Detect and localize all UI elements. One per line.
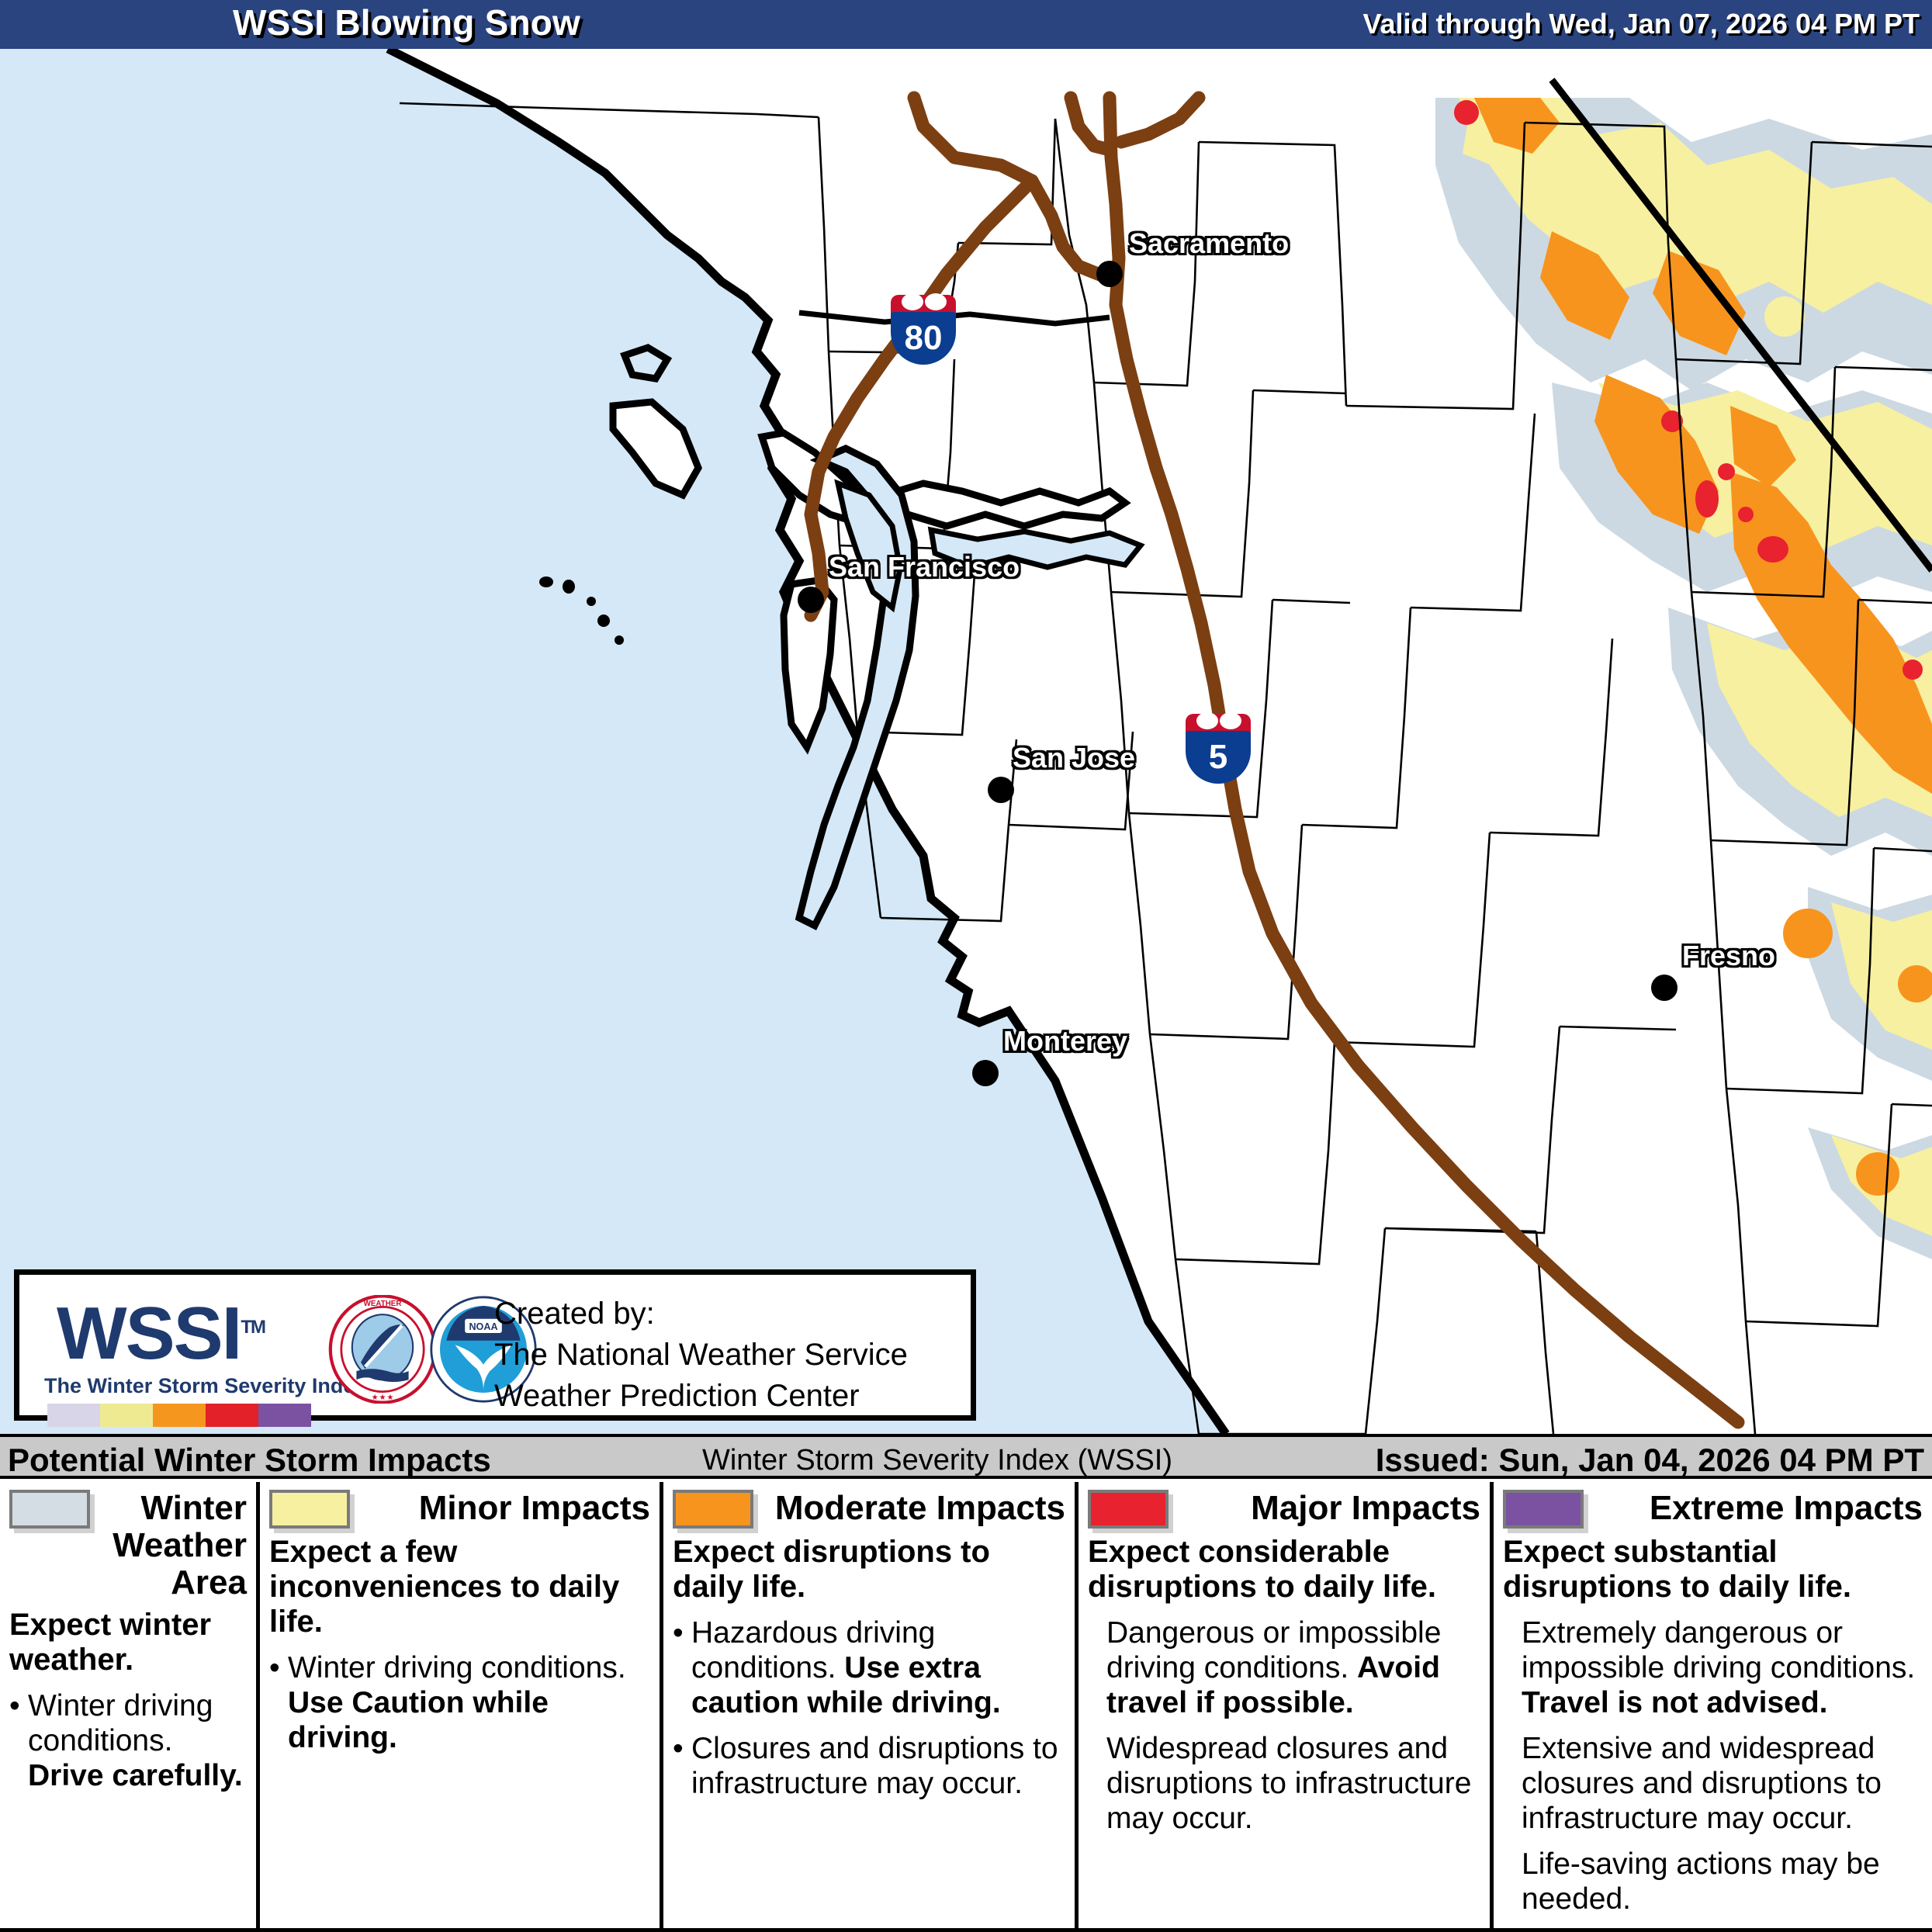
legend-bullet: Life-saving actions may be needed. <box>1503 1847 1923 1916</box>
bullet-dot-icon: • <box>673 1615 691 1720</box>
legend-bullet-text: Hazardous driving conditions. Use extra … <box>691 1615 1065 1720</box>
city-dot-san-francisco <box>798 587 824 613</box>
legend-bullet: •Hazardous driving conditions. Use extra… <box>673 1615 1065 1720</box>
city-label-san-jose: San Jose <box>1013 742 1135 774</box>
legend-bullet-text: Extensive and widespread closures and di… <box>1522 1731 1923 1836</box>
wssi-name-label: Winter Storm Severity Index (WSSI) <box>702 1444 1172 1477</box>
interstate-shield-5-number: 5 <box>1186 740 1251 774</box>
legend-intro: Expect considerable disruptions to daily… <box>1088 1535 1480 1605</box>
header-banner: WSSI Blowing Snow Valid through Wed, Jan… <box>0 0 1932 49</box>
bullet-dot-icon: • <box>9 1688 28 1793</box>
legend-intro: Expect winter weather. <box>9 1608 247 1678</box>
created-by-line-1: Created by: <box>494 1293 908 1335</box>
bullet-dot-icon: • <box>673 1731 691 1801</box>
legend-bullet-text: Winter driving conditions. Use Caution w… <box>288 1650 650 1755</box>
city-dot-fresno <box>1651 975 1678 1001</box>
city-label-fresno: Fresno <box>1682 940 1775 972</box>
valid-through-text: Valid through Wed, Jan 07, 2026 04 PM PT <box>1362 8 1920 40</box>
legend-header: Major Impacts <box>1088 1490 1480 1529</box>
legend-color-swatch <box>1503 1490 1584 1529</box>
issued-label: Issued: Sun, Jan 04, 2026 04 PM PT <box>1376 1442 1924 1479</box>
legend-column-major-impacts: Major ImpactsExpect considerable disrupt… <box>1079 1482 1494 1928</box>
svg-text:★ ★ ★: ★ ★ ★ <box>371 1393 393 1401</box>
legend-intro: Expect substantial disruptions to daily … <box>1503 1535 1923 1605</box>
svg-text:NOAA: NOAA <box>469 1321 497 1332</box>
legend-column-moderate-impacts: Moderate ImpactsExpect disruptions to da… <box>663 1482 1079 1928</box>
svg-text:WEATHER: WEATHER <box>364 1300 402 1308</box>
legend-bullet-text: Widespread closures and disruptions to i… <box>1106 1731 1480 1836</box>
bullet-dot-icon: • <box>269 1650 288 1755</box>
wssi-bar-segment-4 <box>258 1404 311 1427</box>
city-label-sacramento: Sacramento <box>1129 227 1289 260</box>
legend-bullet-text: Closures and disruptions to infrastructu… <box>691 1731 1065 1801</box>
legend-bullet: Extremely dangerous or impossible drivin… <box>1503 1615 1923 1720</box>
legend-header: Extreme Impacts <box>1503 1490 1923 1529</box>
legend-bullet-text: Dangerous or impossible driving conditio… <box>1106 1615 1480 1720</box>
legend-color-swatch <box>269 1490 350 1529</box>
legend-bullet: •Winter driving conditions. Use Caution … <box>269 1650 650 1755</box>
legend-title: Extreme Impacts <box>1594 1490 1923 1527</box>
wssi-bar-segment-0 <box>47 1404 100 1427</box>
interstate-shield-80-number: 80 <box>891 321 956 355</box>
wssi-tagline: The Winter Storm Severity Index <box>44 1374 366 1398</box>
legend-title: Winter Weather Area <box>101 1490 247 1601</box>
potential-impacts-label: Potential Winter Storm Impacts <box>8 1442 491 1479</box>
legend-color-swatch <box>9 1490 90 1529</box>
wssi-bar-segment-1 <box>100 1404 153 1427</box>
map-graphics <box>0 49 1932 1434</box>
legend-color-swatch <box>673 1490 753 1529</box>
wssi-bar-segment-3 <box>206 1404 258 1427</box>
weather-map[interactable]: Sacramento San Francisco San Jose Fresno… <box>0 49 1932 1434</box>
legend-header: Winter Weather Area <box>9 1490 247 1601</box>
legend-bullet-text: Winter driving conditions. Drive careful… <box>28 1688 247 1793</box>
city-dot-sacramento <box>1096 261 1123 287</box>
legend-bullet: Dangerous or impossible driving conditio… <box>1088 1615 1480 1720</box>
created-by-line-2: The National Weather Service <box>494 1335 908 1376</box>
nws-seal-icon: WEATHER ★ ★ ★ <box>328 1295 437 1404</box>
created-by-line-3: Weather Prediction Center <box>494 1376 908 1417</box>
legend-title: Major Impacts <box>1179 1490 1480 1527</box>
legend-intro: Expect a few inconveniences to daily lif… <box>269 1535 650 1639</box>
wssi-wordmark: WSSITM <box>57 1290 265 1371</box>
legend-column-extreme-impacts: Extreme ImpactsExpect substantial disrup… <box>1494 1482 1932 1928</box>
wssi-color-bar <box>47 1404 311 1427</box>
wssi-bar-segment-2 <box>153 1404 206 1427</box>
legend-bullet-text: Life-saving actions may be needed. <box>1522 1847 1923 1916</box>
created-by-block: Created by: The National Weather Service… <box>494 1293 908 1417</box>
legend-bullet-text: Extremely dangerous or impossible drivin… <box>1522 1615 1923 1720</box>
interstate-shield-80-icon: 80 <box>891 295 956 365</box>
status-bar: Potential Winter Storm Impacts Winter St… <box>0 1434 1932 1479</box>
page-title: WSSI Blowing Snow <box>233 2 580 43</box>
legend-bullet: Extensive and widespread closures and di… <box>1503 1731 1923 1836</box>
city-dot-san-jose <box>988 777 1014 803</box>
legend-bullet: Widespread closures and disruptions to i… <box>1088 1731 1480 1836</box>
legend-title: Minor Impacts <box>361 1490 650 1527</box>
legend-column-minor-impacts: Minor ImpactsExpect a few inconveniences… <box>260 1482 663 1928</box>
legend-header: Moderate Impacts <box>673 1490 1065 1529</box>
legend-column-winter-weather-area: Winter Weather AreaExpect winter weather… <box>0 1482 260 1928</box>
city-dot-monterey <box>972 1060 999 1086</box>
wssi-logo-box: WSSITM The Winter Storm Severity Index W… <box>14 1269 976 1421</box>
legend-intro: Expect disruptions to daily life. <box>673 1535 1065 1605</box>
wssi-wordmark-text: WSSI <box>57 1292 241 1375</box>
legend-bullet: •Closures and disruptions to infrastruct… <box>673 1731 1065 1801</box>
legend-title: Moderate Impacts <box>764 1490 1065 1527</box>
interstate-shield-5-icon: 5 <box>1186 714 1251 784</box>
legend-bullet: •Winter driving conditions. Drive carefu… <box>9 1688 247 1793</box>
impact-legend: Winter Weather AreaExpect winter weather… <box>0 1482 1932 1932</box>
legend-header: Minor Impacts <box>269 1490 650 1529</box>
wssi-blowing-snow-map-page: WSSI Blowing Snow Valid through Wed, Jan… <box>0 0 1932 1932</box>
legend-color-swatch <box>1088 1490 1169 1529</box>
wssi-trademark: TM <box>241 1317 265 1338</box>
city-label-monterey: Monterey <box>1003 1025 1127 1058</box>
city-label-san-francisco: San Francisco <box>829 551 1020 583</box>
